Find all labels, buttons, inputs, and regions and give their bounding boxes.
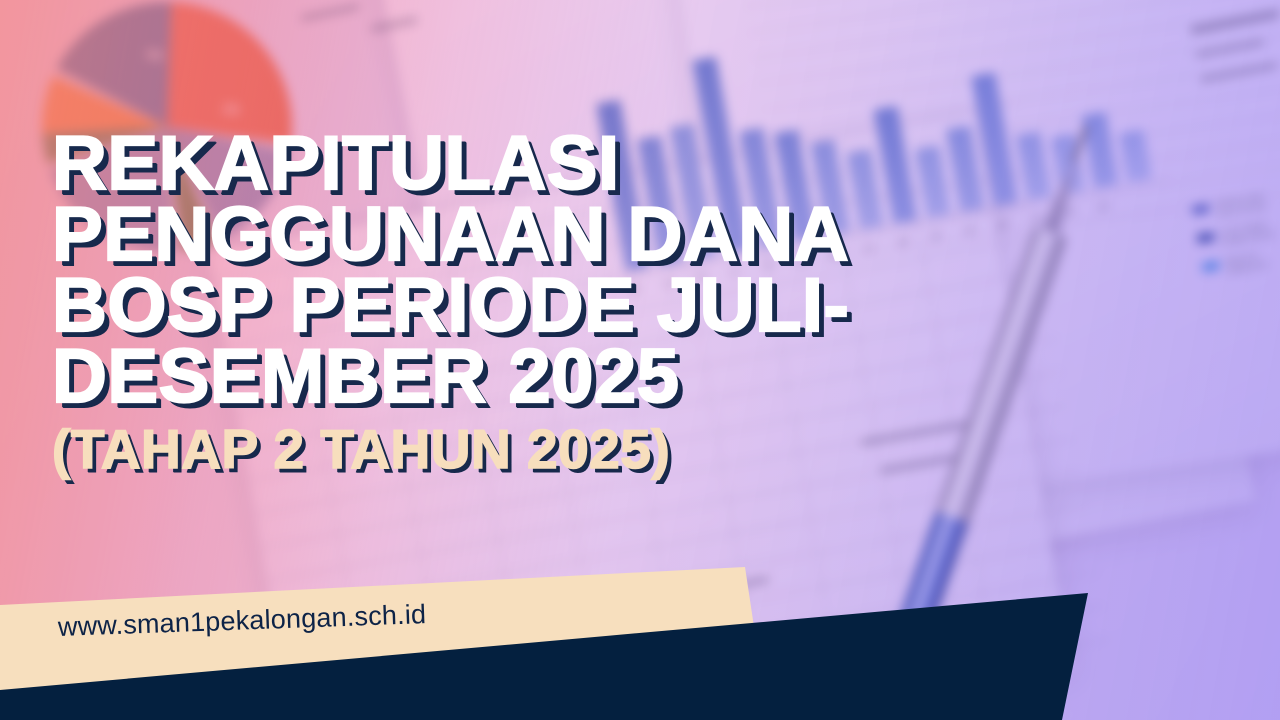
banner-canvas: 65 23 45 (0, 0, 1280, 720)
page-title: REKAPITULASI PENGGUNAAN DANA BOSP PERIOD… (52, 128, 1052, 412)
page-subtitle: (TAHAP 2 TAHUN 2025) (52, 422, 1052, 477)
headline-block: REKAPITULASI PENGGUNAAN DANA BOSP PERIOD… (52, 128, 1052, 477)
